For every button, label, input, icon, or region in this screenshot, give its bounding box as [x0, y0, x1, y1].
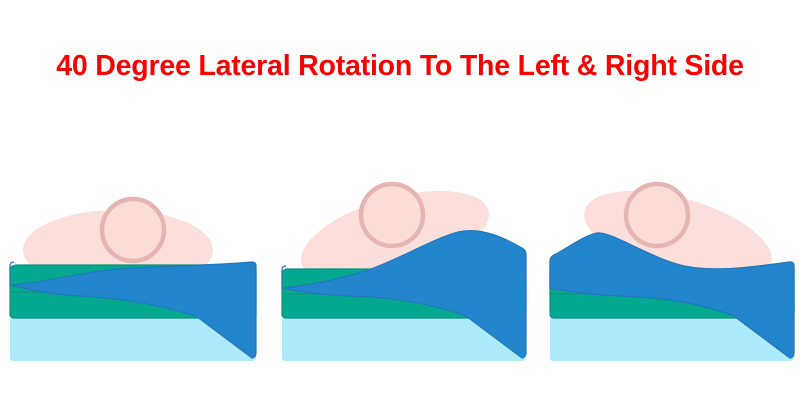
head-shape-left: [102, 199, 164, 261]
figure-left: [10, 199, 256, 361]
mattress-illustration-group: [0, 0, 800, 400]
head-shape-right: [626, 184, 688, 246]
figure-middle: [282, 173, 526, 361]
illustration-canvas: 40 Degree Lateral Rotation To The Left &…: [0, 0, 800, 400]
figure-right: [550, 173, 794, 361]
mattress-positions-diagram: [0, 0, 800, 400]
head-shape-middle: [361, 184, 423, 246]
